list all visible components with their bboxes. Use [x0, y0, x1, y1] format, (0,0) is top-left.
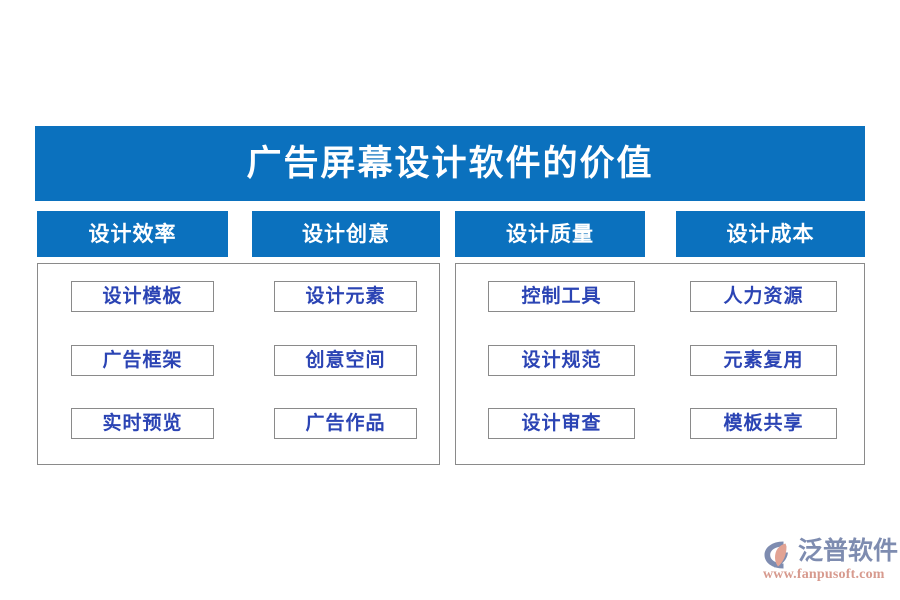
fanpu-swoosh-icon [762, 540, 796, 570]
item-box: 控制工具 [488, 281, 635, 312]
item-label: 广告框架 [102, 351, 182, 370]
item-label: 设计模板 [102, 287, 182, 306]
item-label: 设计元素 [305, 287, 385, 306]
item-box: 创意空间 [274, 345, 417, 376]
page-title-banner: 广告屏幕设计软件的价值 [35, 126, 865, 201]
item-label: 创意空间 [305, 351, 385, 370]
category-header-design-creativity: 设计创意 [252, 211, 440, 257]
logo-url: www.fanpusoft.com [763, 567, 885, 583]
left-panel: 设计模板 广告框架 实时预览 设计元素 创意空间 广告作品 [37, 263, 440, 465]
item-label: 设计规范 [521, 351, 601, 370]
brand-logo: 泛普软件 www.fanpusoft.com [762, 536, 894, 584]
right-panel-grid: 控制工具 设计规范 设计审查 人力资源 元素复用 模板共享 [456, 264, 864, 464]
item-label: 人力资源 [723, 287, 803, 306]
category-header-label: 设计创意 [302, 224, 390, 245]
item-label: 设计审查 [521, 414, 601, 433]
category-header-design-quality: 设计质量 [455, 211, 645, 257]
category-header-label: 设计成本 [727, 224, 815, 245]
right-panel: 控制工具 设计规范 设计审查 人力资源 元素复用 模板共享 [455, 263, 865, 465]
item-label: 实时预览 [102, 414, 182, 433]
category-header-design-efficiency: 设计效率 [37, 211, 228, 257]
item-box: 广告框架 [71, 345, 214, 376]
item-box: 实时预览 [71, 408, 214, 439]
item-box: 模板共享 [690, 408, 837, 439]
item-label: 元素复用 [723, 351, 803, 370]
item-box: 设计元素 [274, 281, 417, 312]
item-box: 元素复用 [690, 345, 837, 376]
item-label: 控制工具 [521, 287, 601, 306]
page-title: 广告屏幕设计软件的价值 [246, 146, 653, 181]
category-header-label: 设计效率 [89, 224, 177, 245]
item-box: 设计审查 [488, 408, 635, 439]
item-box: 广告作品 [274, 408, 417, 439]
category-header-design-cost: 设计成本 [676, 211, 865, 257]
logo-wordmark: 泛普软件 [798, 537, 898, 567]
category-header-label: 设计质量 [506, 224, 594, 245]
left-panel-grid: 设计模板 广告框架 实时预览 设计元素 创意空间 广告作品 [38, 264, 439, 464]
item-label: 模板共享 [723, 414, 803, 433]
item-box: 设计模板 [71, 281, 214, 312]
item-label: 广告作品 [305, 414, 385, 433]
item-box: 人力资源 [690, 281, 837, 312]
item-box: 设计规范 [488, 345, 635, 376]
